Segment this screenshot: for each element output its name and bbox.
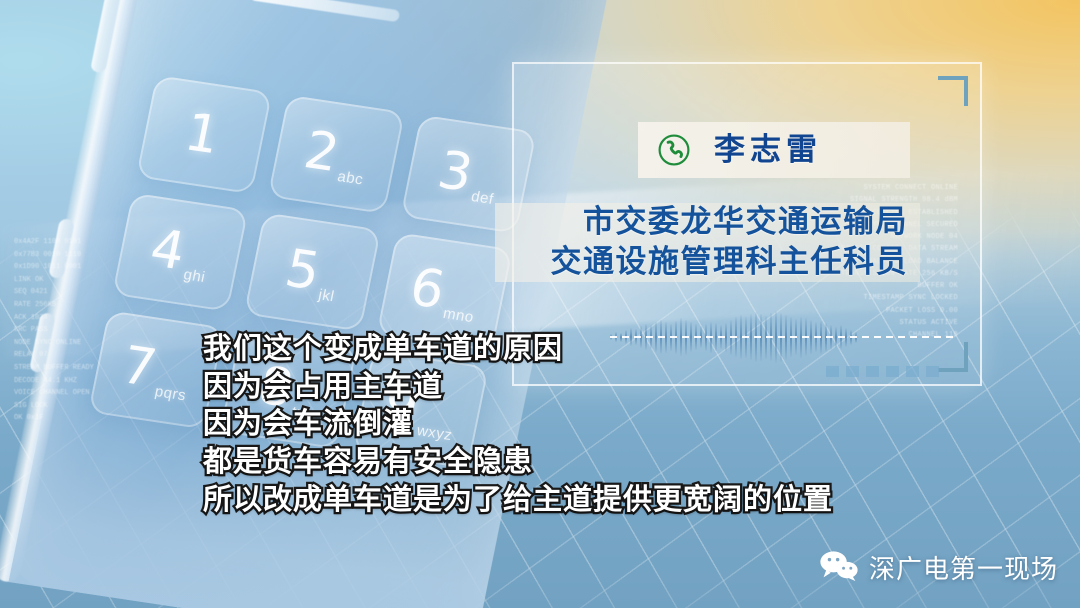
keypad-digit: 1 [181,106,224,162]
keypad-letters: abc [336,168,365,188]
caller-name-banner: 李志雷 [638,122,910,178]
corner-bracket-top-right-icon [938,76,968,106]
subtitle-line: 因为会占用主车道 [203,368,1003,406]
keypad-digit: 5 [281,243,324,299]
caller-title-line-1: 市交委龙华交通运输局 [495,203,908,243]
wechat-watermark: 深广电第一现场 [819,549,1058,586]
caller-title-line-2: 交通设施管理科主任科员 [495,243,908,283]
keypad-key: 1 [136,75,273,194]
subtitle-line: 我们这个变成单车道的原因 [203,330,1003,368]
keypad-key: 5jkl [244,212,381,331]
keypad-key: 2abc [268,95,405,214]
keypad-digit: 3 [434,144,477,200]
subtitle-block: 我们这个变成单车道的原因 因为会占用主车道 因为会车流倒灌 都是货车容易有安全隐… [203,330,1003,518]
keypad-letters: mno [442,305,476,326]
wechat-label: 深广电第一现场 [869,549,1058,586]
wechat-icon [819,550,859,586]
decor-code-text-left: 0x4A2F 1100 0101 0x77B3 0010 1110 0x1D90… [14,236,174,425]
keypad-letters: def [470,188,496,208]
broadcast-screen: 1 2abc 3def 4ghi 5jkl 6mno 7pqrs 8tuv 9w… [0,0,1080,608]
keypad-digit: 6 [406,261,449,317]
subtitle-line: 因为会车流倒灌 [203,405,1003,443]
caller-name: 李志雷 [714,135,822,166]
caller-title-block: 市交委龙华交通运输局 交通设施管理科主任科员 [495,203,920,282]
keypad-digit: 2 [300,124,343,180]
subtitle-line: 所以改成单车道是为了给主道提供更宽阔的位置 [203,481,1003,519]
keypad-letters: ghi [182,266,207,286]
keypad-letters: jkl [317,286,336,305]
subtitle-line: 都是货车容易有安全隐患 [203,443,1003,481]
phone-circle-icon [656,132,692,168]
